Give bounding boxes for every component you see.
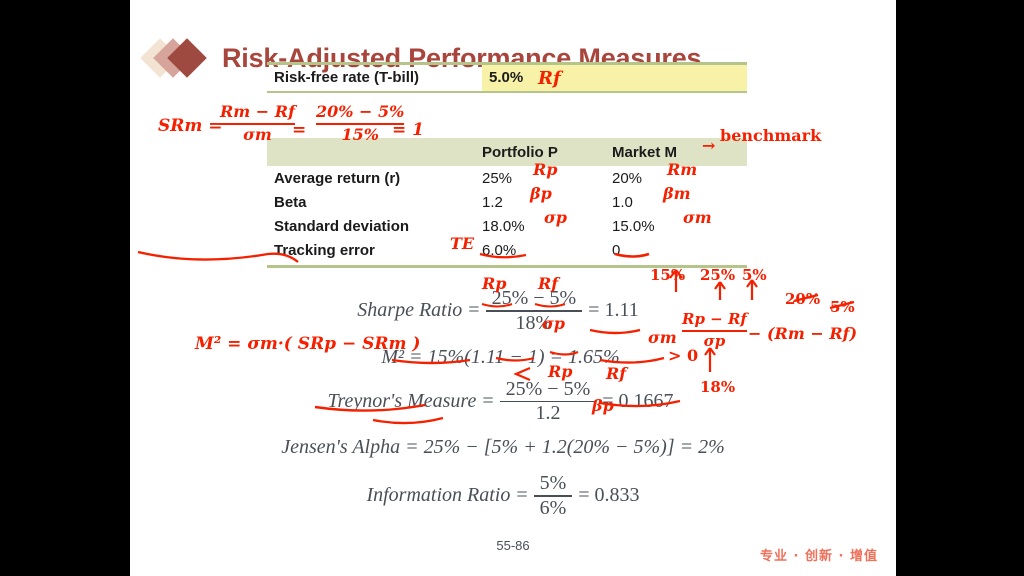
row-portfolio-value: 1.2 [482,194,612,211]
annotation-side-15: 15% [650,268,685,283]
row-market-value: 15.0% [612,218,747,235]
performance-data-table: Portfolio P Market M Average return (r) … [267,138,747,268]
treynor-numerator: 25% − 5% [500,379,597,400]
formula-block: Sharpe Ratio = 25% − 5% 18% = 1.11 M² = … [130,288,896,519]
table-row: Tracking error 6.0% 0 [267,238,747,262]
information-equals: = [516,484,527,507]
formula-jensens-alpha: Jensen's Alpha = 25% − [5% + 1.2(20% − 5… [130,436,896,459]
header-portfolio-p: Portfolio P [482,144,612,161]
treynor-denominator: 1.2 [529,403,566,424]
row-market-value: 0 [612,242,747,259]
formula-information-ratio: Information Ratio = 5% 6% = 0.833 [130,473,896,519]
annotation-fraction-bar [220,123,295,126]
slide-canvas: Risk-Adjusted Performance Measures Risk-… [130,0,896,576]
table-row: Average return (r) 25% 20% [267,166,747,190]
information-denominator: 6% [534,498,573,519]
annotation-sr-equals-1: = [292,122,306,139]
annotation-sr-num-2: 20% − 5% [316,104,404,121]
annotation-side-5: 5% [742,268,767,283]
table-rule-bottom [267,265,747,268]
sharpe-equals: = [468,299,479,322]
screenshot-stage: Risk-Adjusted Performance Measures Risk-… [0,0,1024,576]
table-row: Risk-free rate (T-bill) 5.0% [267,65,747,91]
information-numerator: 5% [534,473,573,494]
diamond-bullet-icon [146,38,212,78]
row-market-value: 20% [612,170,747,187]
header-market-m: Market M [612,144,747,161]
annotation-sr-market-label: SRm = [158,118,223,135]
highlight-pad [607,65,747,91]
risk-free-rate-table: Risk-free rate (T-bill) 5.0% [267,62,747,93]
formula-m-squared: M² = 15%(1.11 − 1) = 1.65% [130,346,896,369]
information-result: = 0.833 [578,484,639,507]
sharpe-fraction: 25% − 5% 18% [486,288,583,334]
treynor-equals: = [482,390,493,413]
formula-sharpe-ratio: Sharpe Ratio = 25% − 5% 18% = 1.11 [130,288,896,334]
row-label: Tracking error [267,242,482,259]
information-label: Information Ratio [366,484,510,507]
row-portfolio-value: 6.0% [482,242,612,259]
row-label: Standard deviation [267,218,482,235]
m2-text: M² = 15%(1.11 − 1) = 1.65% [381,346,619,369]
table-row: Standard deviation 18.0% 15.0% [267,214,747,238]
risk-free-value: 5.0% [482,65,607,91]
table-row: Beta 1.2 1.0 [267,190,747,214]
annotation-sr-equals-2: = 1 [392,122,424,139]
sharpe-label: Sharpe Ratio [357,299,462,322]
row-label: Average return (r) [267,170,482,187]
jensen-text: Jensen's Alpha = 25% − [5% + 1.2(20% − 5… [281,436,725,459]
sharpe-denominator: 18% [510,313,559,334]
treynor-fraction: 25% − 5% 1.2 [500,379,597,425]
sharpe-numerator: 25% − 5% [486,288,583,309]
row-portfolio-value: 18.0% [482,218,612,235]
risk-free-label: Risk-free rate (T-bill) [267,69,482,86]
table-header-row: Portfolio P Market M [267,138,747,166]
row-market-value: 1.0 [612,194,747,211]
treynor-label: Treynor's Measure [327,390,476,413]
annotation-fraction-bar [316,123,404,126]
formula-treynor-measure: Treynor's Measure = 25% − 5% 1.2 = 0.166… [130,379,896,425]
annotation-side-25: 25% [700,268,735,283]
treynor-result: = 0.1667 [602,390,673,413]
row-label: Beta [267,194,482,211]
information-fraction: 5% 6% [534,473,573,519]
sharpe-result: = 1.11 [588,299,639,322]
annotation-sr-num-1: Rm − Rf [220,104,295,121]
row-portfolio-value: 25% [482,170,612,187]
table-rule-bottom [267,91,747,94]
watermark-text: 专业 · 创新 · 增值 [760,545,878,564]
